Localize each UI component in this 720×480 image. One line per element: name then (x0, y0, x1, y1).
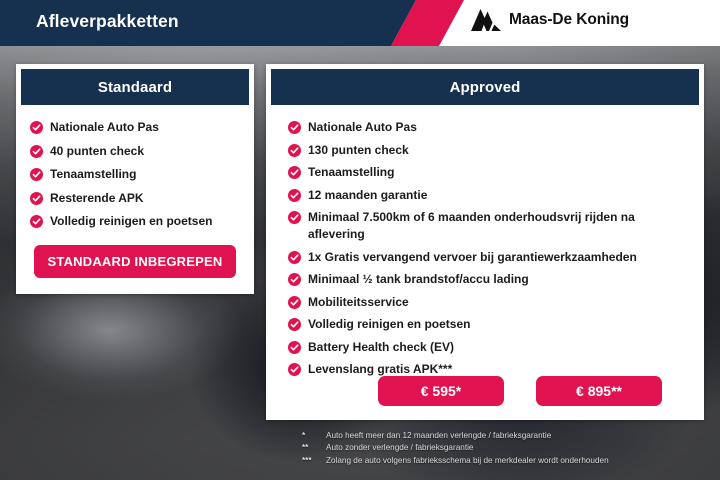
list-item: 130 punten check (288, 142, 690, 159)
check-circle-icon (288, 273, 301, 286)
brand-lockup: Maas-De Koning (471, 9, 629, 31)
page-header: Afleverpakketten Maas-De Koning (0, 0, 720, 46)
list-item: Minimaal 7.500km of 6 maanden onderhouds… (288, 209, 690, 243)
page-title: Afleverpakketten (36, 11, 179, 32)
list-item: 12 maanden garantie (288, 187, 690, 204)
check-circle-icon (30, 145, 43, 158)
check-circle-icon (288, 251, 301, 264)
package-card-standaard: Standaard Nationale Auto Pas 40 punten c… (16, 64, 254, 294)
feature-label: Tenaamstelling (50, 166, 136, 183)
maas-de-koning-m-logo-icon (471, 9, 501, 31)
list-item: 40 punten check (30, 143, 242, 160)
feature-label: Minimaal 7.500km of 6 maanden onderhouds… (308, 209, 690, 243)
standaard-cta-row: STANDAARD INBEGREPEN (16, 245, 254, 278)
footnote-single-asterisk: * Auto heeft meer dan 12 maanden verleng… (302, 430, 702, 442)
check-circle-icon (30, 121, 43, 134)
footnote-double-asterisk: ** Auto zonder verlengde / fabrieksgaran… (302, 442, 702, 454)
list-item: Volledig reinigen en poetsen (288, 316, 690, 333)
package-title: Approved (450, 79, 521, 96)
list-item: Resterende APK (30, 190, 242, 207)
footnote-marker: *** (302, 455, 322, 467)
feature-label: 40 punten check (50, 143, 144, 160)
feature-label: Volledig reinigen en poetsen (50, 213, 212, 230)
feature-label: 12 maanden garantie (308, 187, 427, 204)
feature-label: 1x Gratis vervangend vervoer bij garanti… (308, 249, 637, 266)
list-item: Tenaamstelling (288, 164, 690, 181)
delivery-packages-slide: Afleverpakketten Maas-De Koning Standaar… (0, 0, 720, 480)
package-card-header-standaard: Standaard (21, 69, 249, 105)
feature-list-standaard: Nationale Auto Pas 40 punten check Tenaa… (16, 105, 254, 230)
feature-label: Battery Health check (EV) (308, 339, 454, 356)
check-circle-icon (288, 363, 301, 376)
list-item: Tenaamstelling (30, 166, 242, 183)
price-button-895[interactable]: € 895** (536, 376, 662, 406)
check-circle-icon (288, 144, 301, 157)
feature-label: Nationale Auto Pas (308, 119, 417, 136)
check-circle-icon (288, 318, 301, 331)
feature-label: Mobiliteitsservice (308, 294, 409, 311)
package-card-approved: Approved Nationale Auto Pas 130 punten c… (266, 64, 704, 420)
check-circle-icon (288, 341, 301, 354)
price-button-595[interactable]: € 595* (378, 376, 504, 406)
footnote-marker: * (302, 430, 322, 442)
footnote-marker: ** (302, 442, 322, 454)
feature-list-approved: Nationale Auto Pas 130 punten check Tena… (266, 105, 704, 378)
list-item: Minimaal ½ tank brandstof/accu lading (288, 271, 690, 288)
check-circle-icon (30, 215, 43, 228)
footnote-text: Auto heeft meer dan 12 maanden verlengde… (326, 430, 551, 442)
feature-label: Tenaamstelling (308, 164, 394, 181)
feature-label: Volledig reinigen en poetsen (308, 316, 470, 333)
footnote-triple-asterisk: *** Zolang de auto volgens fabrieksschem… (302, 455, 702, 467)
package-title: Standaard (98, 79, 172, 96)
footnote-text: Auto zonder verlengde / fabrieksgarantie (326, 442, 473, 454)
check-circle-icon (288, 121, 301, 134)
check-circle-icon (288, 189, 301, 202)
brand-name: Maas-De Koning (509, 11, 629, 29)
check-circle-icon (30, 192, 43, 205)
feature-label: Resterende APK (50, 190, 144, 207)
list-item: Volledig reinigen en poetsen (30, 213, 242, 230)
package-card-header-approved: Approved (271, 69, 699, 105)
list-item: Nationale Auto Pas (288, 119, 690, 136)
check-circle-icon (30, 168, 43, 181)
list-item: Nationale Auto Pas (30, 119, 242, 136)
list-item: Mobiliteitsservice (288, 294, 690, 311)
feature-label: 130 punten check (308, 142, 409, 159)
list-item: Battery Health check (EV) (288, 339, 690, 356)
feature-label: Minimaal ½ tank brandstof/accu lading (308, 271, 529, 288)
price-button-row: € 595* € 895** (266, 376, 704, 406)
standaard-inbegrepen-button[interactable]: STANDAARD INBEGREPEN (34, 245, 237, 278)
footnote-text: Zolang de auto volgens fabrieksschema bi… (326, 455, 609, 467)
check-circle-icon (288, 211, 301, 224)
check-circle-icon (288, 296, 301, 309)
feature-label: Nationale Auto Pas (50, 119, 159, 136)
footnotes: * Auto heeft meer dan 12 maanden verleng… (302, 430, 702, 467)
list-item: 1x Gratis vervangend vervoer bij garanti… (288, 249, 690, 266)
check-circle-icon (288, 166, 301, 179)
